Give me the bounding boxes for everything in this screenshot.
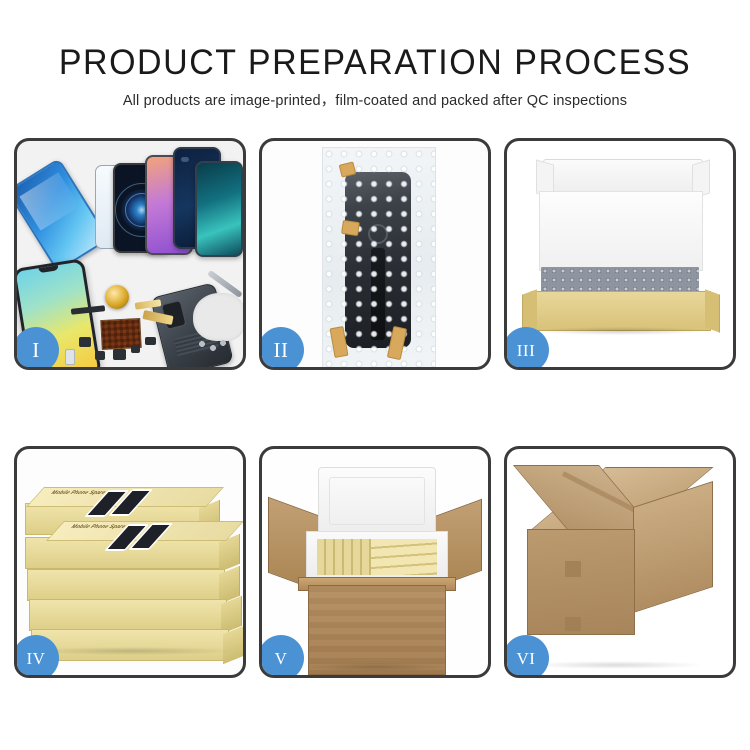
process-step-5[interactable]: V: [259, 446, 491, 678]
process-step-3[interactable]: III: [504, 138, 736, 370]
printed-box-icon: [25, 537, 46, 569]
drop-shadow: [306, 663, 446, 671]
page-subtitle: All products are image-printed，film-coat…: [0, 82, 750, 110]
screws-icon: [197, 339, 227, 355]
teal-phone-icon: [195, 161, 243, 257]
small-part-icon: [145, 337, 156, 345]
process-step-6[interactable]: VI: [504, 446, 736, 678]
printed-box-icon: Mobile Phone Spare Parts: [45, 537, 225, 569]
drop-shadow: [33, 647, 233, 655]
box-stack-icon: Mobile Phone Spare Parts Mobile Phone Sp…: [23, 471, 239, 659]
step-badge-6: VI: [504, 635, 549, 678]
tape-icon: [565, 617, 581, 631]
step-badge-5: V: [259, 635, 304, 678]
packed-yellow-boxes-icon: [317, 539, 437, 575]
box-side: [223, 626, 243, 664]
small-part-icon: [95, 351, 105, 360]
page-title: PRODUCT PREPARATION PROCESS: [11, 0, 739, 82]
foam-lid-icon: [318, 467, 436, 535]
step-badge-2: II: [259, 327, 304, 370]
step-badge-1: I: [14, 327, 59, 370]
printed-box-icon: [31, 629, 229, 661]
speaker-coil-icon: [105, 285, 129, 309]
drop-shadow: [531, 661, 701, 669]
small-part-icon: [65, 349, 75, 365]
product-preparation-infographic: PRODUCT PREPARATION PROCESS All products…: [0, 0, 750, 750]
foam-box-icon: [306, 531, 448, 583]
small-part-icon: [131, 345, 140, 353]
hand-icon: [193, 293, 243, 341]
printed-box-icon: [29, 599, 227, 631]
small-part-icon: [113, 349, 126, 360]
bubble-wrap-fill-icon: [541, 267, 699, 293]
step-badge-3: III: [504, 327, 549, 370]
process-step-4[interactable]: Mobile Phone Spare Parts Mobile Phone Sp…: [14, 446, 246, 678]
carton-front-icon: [527, 529, 635, 635]
process-step-grid: I II II: [14, 138, 736, 674]
kraft-box-icon: [531, 291, 711, 331]
foam-pad-icon: [539, 191, 703, 271]
header: PRODUCT PREPARATION PROCESS All products…: [0, 0, 750, 110]
process-step-1[interactable]: I: [14, 138, 246, 370]
small-part-icon: [79, 337, 91, 347]
carton-body-icon: [308, 585, 446, 675]
tape-icon: [341, 220, 360, 236]
printed-box-icon: [27, 569, 225, 601]
tape-icon: [565, 561, 581, 577]
step-badge-4: IV: [14, 635, 59, 678]
process-step-2[interactable]: II: [259, 138, 491, 370]
drop-shadow: [537, 327, 705, 335]
